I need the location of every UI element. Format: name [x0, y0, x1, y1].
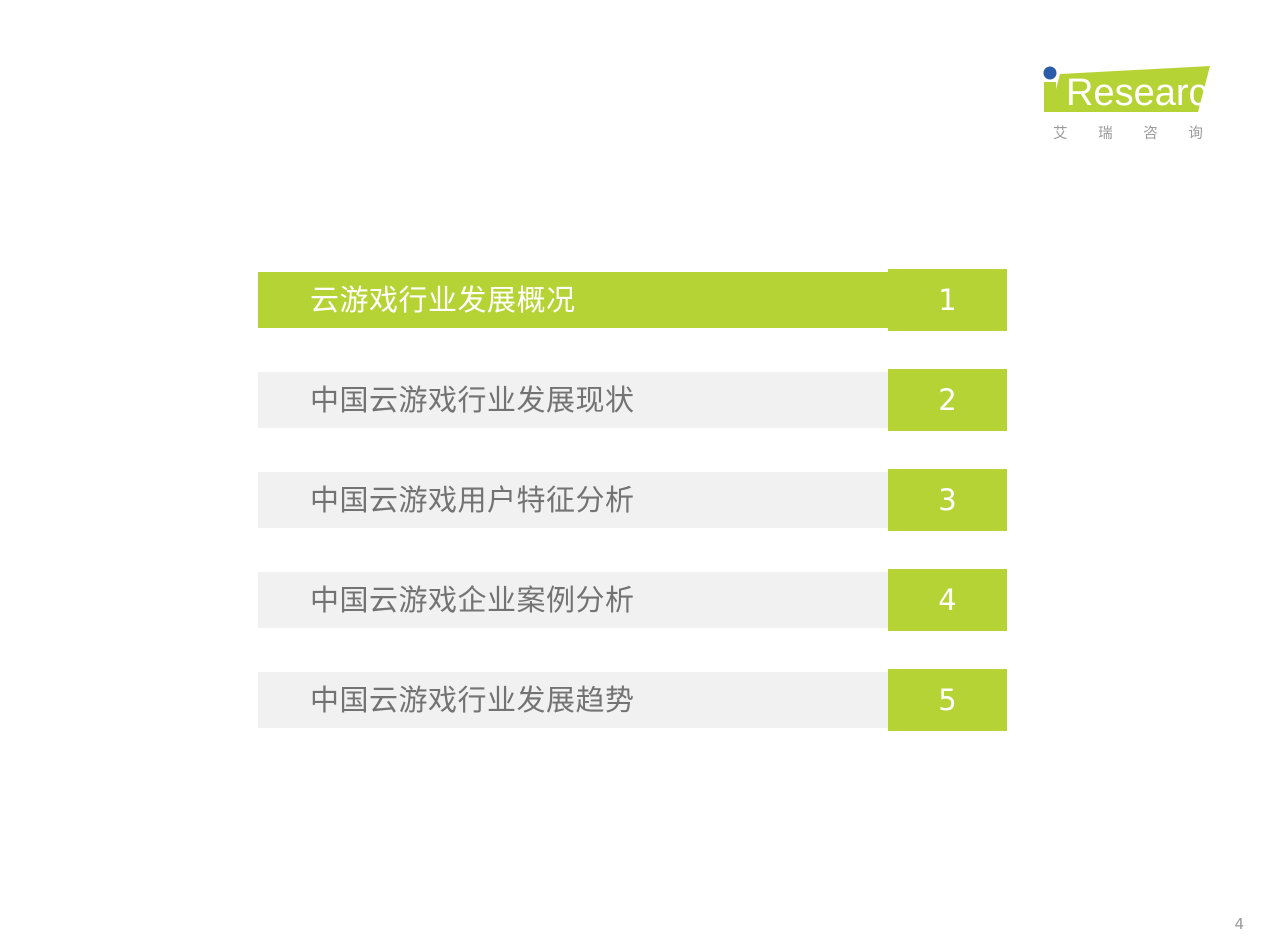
agenda-item-2-label: 中国云游戏行业发展现状	[258, 386, 635, 415]
agenda-list: 云游戏行业发展概况 1 中国云游戏行业发展现状 2 中国云游戏用户特征分析 3 …	[258, 272, 1007, 728]
agenda-item-4-label: 中国云游戏企业案例分析	[258, 586, 635, 615]
logo-shape-icon: Research	[1038, 60, 1213, 118]
agenda-item-4[interactable]: 中国云游戏企业案例分析 4	[258, 572, 1007, 628]
agenda-item-1-body[interactable]: 云游戏行业发展概况	[258, 272, 888, 328]
page-number: 4	[1234, 915, 1244, 933]
agenda-item-3-label: 中国云游戏用户特征分析	[258, 486, 635, 515]
agenda-item-2-body[interactable]: 中国云游戏行业发展现状	[258, 372, 888, 428]
agenda-item-2-number: 2	[888, 369, 1007, 431]
agenda-item-4-number: 4	[888, 569, 1007, 631]
agenda-item-3-body[interactable]: 中国云游戏用户特征分析	[258, 472, 888, 528]
agenda-item-2[interactable]: 中国云游戏行业发展现状 2	[258, 372, 1007, 428]
agenda-item-5-label: 中国云游戏行业发展趋势	[258, 686, 635, 715]
agenda-item-4-body[interactable]: 中国云游戏企业案例分析	[258, 572, 888, 628]
agenda-item-5[interactable]: 中国云游戏行业发展趋势 5	[258, 672, 1007, 728]
agenda-item-5-body[interactable]: 中国云游戏行业发展趋势	[258, 672, 888, 728]
agenda-item-1-label: 云游戏行业发展概况	[258, 286, 576, 315]
iresearch-logo: Research 艾 瑞 咨 询	[1038, 60, 1213, 148]
agenda-item-5-number: 5	[888, 669, 1007, 731]
logo-wordmark: Research	[1038, 60, 1213, 118]
logo-research-text: Research	[1066, 72, 1213, 114]
logo-subtitle: 艾 瑞 咨 询	[1040, 122, 1212, 143]
agenda-item-1[interactable]: 云游戏行业发展概况 1	[258, 272, 1007, 328]
agenda-item-3-number: 3	[888, 469, 1007, 531]
agenda-item-1-number: 1	[888, 269, 1007, 331]
agenda-item-3[interactable]: 中国云游戏用户特征分析 3	[258, 472, 1007, 528]
